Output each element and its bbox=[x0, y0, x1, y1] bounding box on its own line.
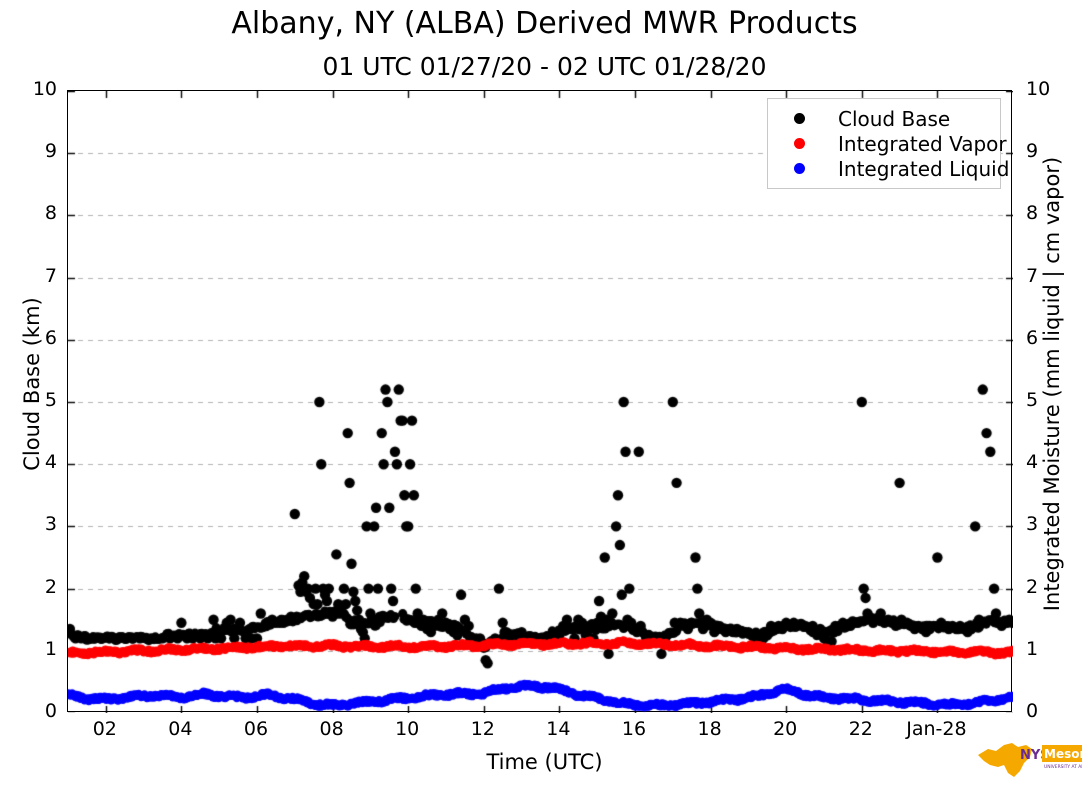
logo-mesonet-text: Mesonet bbox=[1044, 747, 1082, 761]
page-title: Albany, NY (ALBA) Derived MWR Products bbox=[0, 6, 1089, 41]
x-axis-title: Time (UTC) bbox=[0, 750, 1089, 774]
legend-item-0[interactable]: Cloud Base bbox=[768, 106, 1000, 131]
legend-marker-icon bbox=[794, 138, 805, 149]
y-tick-left-1: 1 bbox=[5, 638, 57, 660]
y-tick-left-4: 4 bbox=[5, 451, 57, 473]
y-tick-left-0: 0 bbox=[5, 700, 57, 722]
y-axis-left-title: Cloud Base (km) bbox=[20, 74, 44, 694]
mwr-chart-figure: Albany, NY (ALBA) Derived MWR Products 0… bbox=[0, 0, 1089, 804]
y-tick-right-6: 6 bbox=[1026, 327, 1078, 349]
y-tick-right-0: 0 bbox=[1026, 700, 1078, 722]
y-tick-right-3: 3 bbox=[1026, 513, 1078, 535]
y-tick-left-3: 3 bbox=[5, 513, 57, 535]
y-tick-left-9: 9 bbox=[5, 140, 57, 162]
legend-label: Integrated Vapor bbox=[838, 132, 1007, 156]
y-tick-right-9: 9 bbox=[1026, 140, 1078, 162]
page-subtitle: 01 UTC 01/27/20 - 02 UTC 01/28/20 bbox=[0, 52, 1089, 81]
y-tick-right-7: 7 bbox=[1026, 265, 1078, 287]
legend-item-1[interactable]: Integrated Vapor bbox=[768, 131, 1000, 156]
y-tick-right-5: 5 bbox=[1026, 389, 1078, 411]
y-axis-right-title: Integrated Moisture (mm liquid | cm vapo… bbox=[1040, 74, 1064, 694]
chart-legend: Cloud BaseIntegrated VaporIntegrated Liq… bbox=[767, 98, 1001, 189]
legend-item-2[interactable]: Integrated Liquid bbox=[768, 156, 1000, 181]
y-tick-right-8: 8 bbox=[1026, 202, 1078, 224]
y-tick-right-1: 1 bbox=[1026, 638, 1078, 660]
y-tick-left-8: 8 bbox=[5, 202, 57, 224]
y-tick-left-10: 10 bbox=[5, 78, 57, 100]
legend-marker-icon bbox=[794, 163, 805, 174]
legend-label: Cloud Base bbox=[838, 107, 950, 131]
y-tick-left-5: 5 bbox=[5, 389, 57, 411]
y-tick-left-6: 6 bbox=[5, 327, 57, 349]
y-tick-right-10: 10 bbox=[1026, 78, 1078, 100]
y-tick-left-2: 2 bbox=[5, 576, 57, 598]
legend-label: Integrated Liquid bbox=[838, 157, 1009, 181]
y-tick-right-2: 2 bbox=[1026, 576, 1078, 598]
nys-mesonet-logo: NYS Mesonet UNIVERSITY AT ALBANY bbox=[974, 737, 1082, 785]
y-tick-right-4: 4 bbox=[1026, 451, 1078, 473]
logo-tagline-text: UNIVERSITY AT ALBANY bbox=[1044, 764, 1082, 770]
legend-marker-icon bbox=[794, 113, 805, 124]
x-tick-Jan-28: Jan-28 bbox=[891, 718, 981, 740]
y-tick-left-7: 7 bbox=[5, 265, 57, 287]
